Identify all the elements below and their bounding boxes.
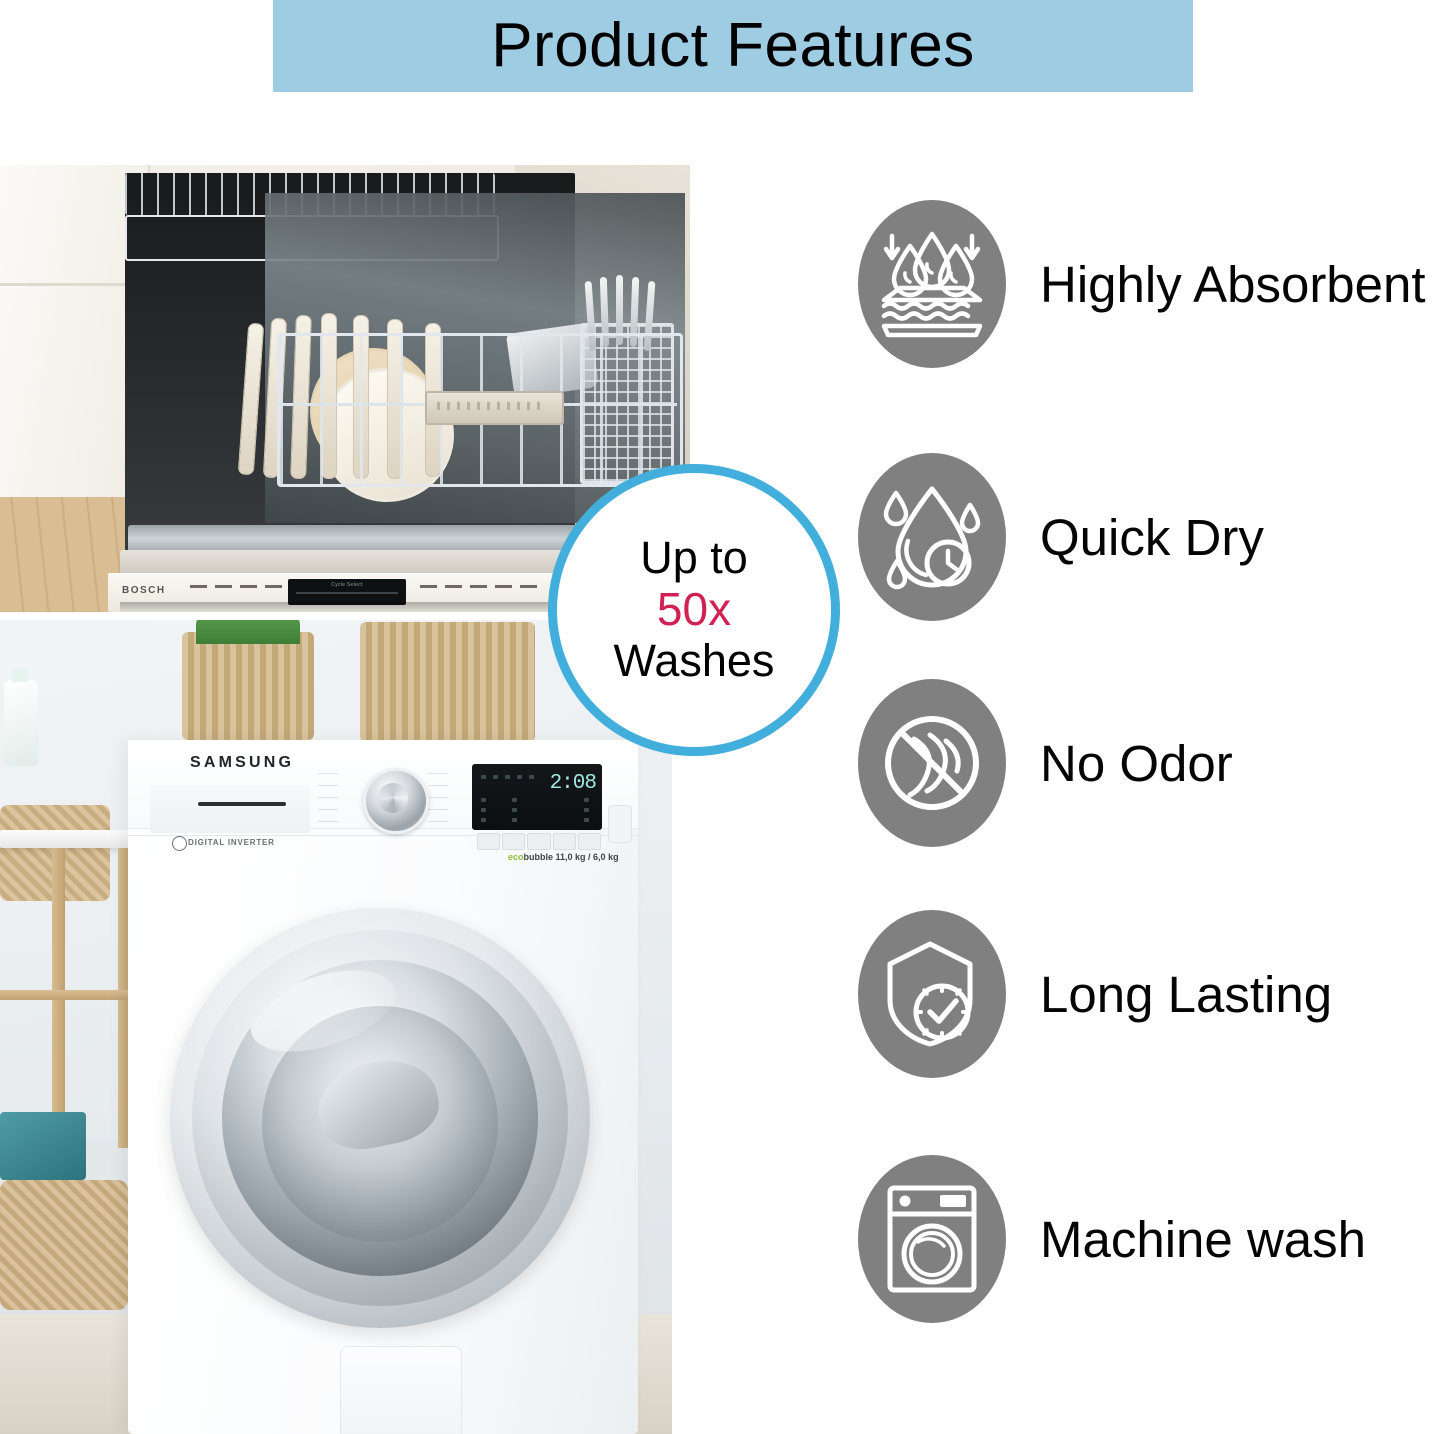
feature-item-machine-wash[interactable]: Machine wash — [858, 1155, 1445, 1323]
dishwasher-button — [240, 585, 257, 588]
drawer-handle — [198, 802, 286, 806]
dishwasher-button — [265, 585, 282, 588]
wicker-planter — [182, 632, 314, 740]
washer-door-glass — [222, 960, 538, 1276]
washing-machine-photo: SAMSUNG DIGITAL INVERTER ————— ————— ———… — [0, 620, 672, 1434]
washer-power-button — [608, 805, 632, 843]
washer-soft-button — [553, 833, 576, 850]
program-dial-inner — [378, 783, 408, 813]
feature-item-no-odor[interactable]: No Odor — [858, 679, 1445, 847]
dishwasher-button — [420, 585, 437, 588]
cycle-label: ————— — [428, 794, 448, 799]
washer-display: 2:08 — [472, 764, 602, 830]
ecobubble-label: ecobubble 11,0 kg / 6,0 kg — [508, 852, 619, 862]
washer-soft-button — [502, 833, 525, 850]
washer-display-time: 2:08 — [550, 772, 596, 795]
teal-towel — [0, 1112, 86, 1180]
display-indicator — [584, 818, 589, 822]
feature-list: Highly Absorbent Quick Dry — [858, 200, 1445, 1390]
dishwasher-cavity — [125, 173, 575, 573]
display-indicator — [481, 775, 486, 779]
display-indicator — [584, 798, 589, 802]
washer-soft-button — [527, 833, 550, 850]
display-indicator — [505, 775, 510, 779]
washer-button-row — [477, 833, 601, 848]
cycle-label: ————— — [318, 794, 338, 799]
display-indicator — [481, 818, 486, 822]
wicker-basket-floor — [0, 1180, 128, 1310]
plate-edge — [238, 323, 265, 476]
cycle-label: ————— — [318, 782, 338, 787]
display-indicator — [512, 808, 517, 812]
washes-badge: Up to 50x Washes — [548, 464, 840, 756]
dishwasher-shadow — [120, 602, 590, 612]
green-plant — [196, 620, 300, 644]
water-drops-absorbent-icon — [858, 200, 1006, 368]
cycle-label: ————— — [428, 806, 448, 811]
dishwasher-button — [215, 585, 232, 588]
feature-label-quick-dry: Quick Dry — [1040, 512, 1264, 563]
capacity-label: 11,0 kg / 6,0 kg — [556, 852, 619, 862]
cycle-label: ————— — [318, 806, 338, 811]
bosch-brand-label: BOSCH — [122, 585, 166, 596]
feature-label-highly-absorbent: Highly Absorbent — [1040, 259, 1426, 310]
display-indicator — [584, 808, 589, 812]
display-indicator — [512, 818, 517, 822]
dishwasher-display-bar — [296, 592, 398, 594]
detergent-bottle — [4, 680, 38, 766]
washer-soft-button — [578, 833, 601, 850]
washer-filter-panel — [340, 1346, 462, 1434]
dishwasher-button — [470, 585, 487, 588]
dishwasher-button — [445, 585, 462, 588]
display-indicator — [493, 775, 498, 779]
display-indicator — [481, 798, 486, 802]
display-indicator — [512, 798, 517, 802]
digital-inverter-label: DIGITAL INVERTER — [188, 838, 275, 847]
detergent-drawer — [150, 785, 310, 833]
feature-label-machine-wash: Machine wash — [1040, 1214, 1366, 1265]
dishwasher-display-label: Cycle Select — [288, 582, 406, 588]
eco-label: eco — [508, 852, 524, 862]
cycle-label: ————— — [428, 818, 448, 823]
display-indicator — [481, 808, 486, 812]
shield-check-icon — [858, 910, 1006, 1078]
display-indicator — [517, 775, 522, 779]
dishwasher-button — [495, 585, 512, 588]
cycle-label: ————— — [428, 782, 448, 787]
cycle-label: ————— — [428, 770, 448, 775]
dishwasher-button — [190, 585, 207, 588]
bubble-label: bubble — [524, 852, 554, 862]
droplet-clock-icon — [858, 453, 1006, 621]
washer-soft-button — [477, 833, 500, 850]
badge-line-up-to: Up to — [640, 533, 748, 584]
feature-item-long-lasting[interactable]: Long Lasting — [858, 910, 1445, 1078]
display-indicator — [529, 775, 534, 779]
dispenser-vents — [437, 402, 547, 410]
feature-label-no-odor: No Odor — [1040, 738, 1233, 789]
washing-machine-icon — [858, 1155, 1006, 1323]
badge-line-washes: Washes — [614, 636, 775, 687]
no-odor-prohibition-icon — [858, 679, 1006, 847]
badge-line-50x: 50x — [657, 584, 731, 636]
inverter-badge-icon — [172, 836, 187, 851]
samsung-brand-label: SAMSUNG — [190, 754, 294, 772]
detergent-bottle-cap — [12, 668, 28, 682]
feature-item-highly-absorbent[interactable]: Highly Absorbent — [858, 200, 1445, 368]
dishwasher-button — [520, 585, 537, 588]
cycle-label: ————— — [318, 770, 338, 775]
feature-label-long-lasting: Long Lasting — [1040, 969, 1332, 1020]
cycle-label: ————— — [318, 818, 338, 823]
feature-item-quick-dry[interactable]: Quick Dry — [858, 453, 1445, 621]
wicker-basket-top — [360, 622, 535, 742]
